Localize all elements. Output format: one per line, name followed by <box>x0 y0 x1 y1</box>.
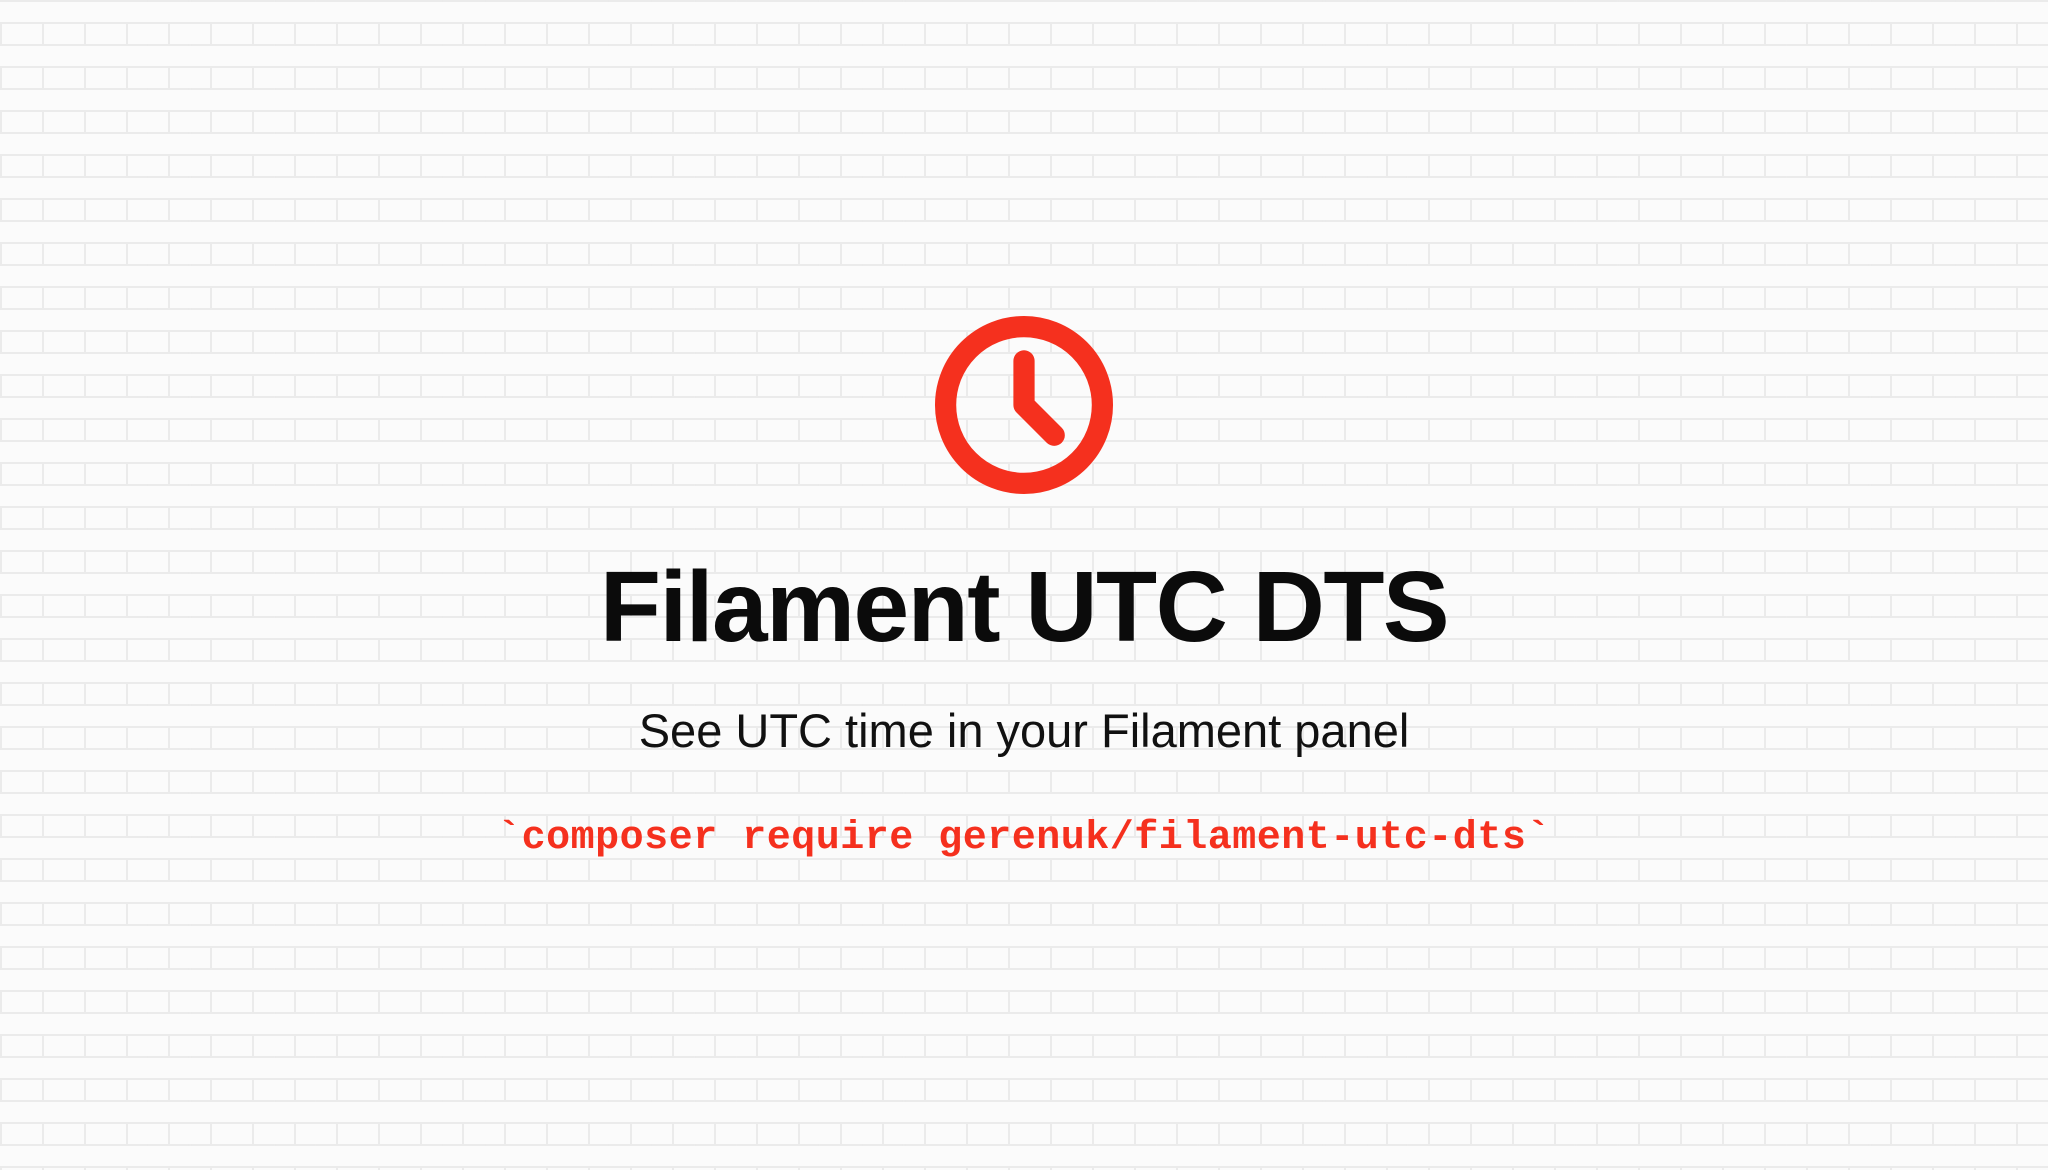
install-command: `composer require gerenuk/filament-utc-d… <box>497 815 1551 863</box>
clock-icon <box>926 307 1122 503</box>
hero-content: Filament UTC DTS See UTC time in your Fi… <box>0 307 2048 863</box>
page-title: Filament UTC DTS <box>600 555 1448 659</box>
page-subtitle: See UTC time in your Filament panel <box>639 703 1410 759</box>
hero-banner: Filament UTC DTS See UTC time in your Fi… <box>0 0 2048 1170</box>
